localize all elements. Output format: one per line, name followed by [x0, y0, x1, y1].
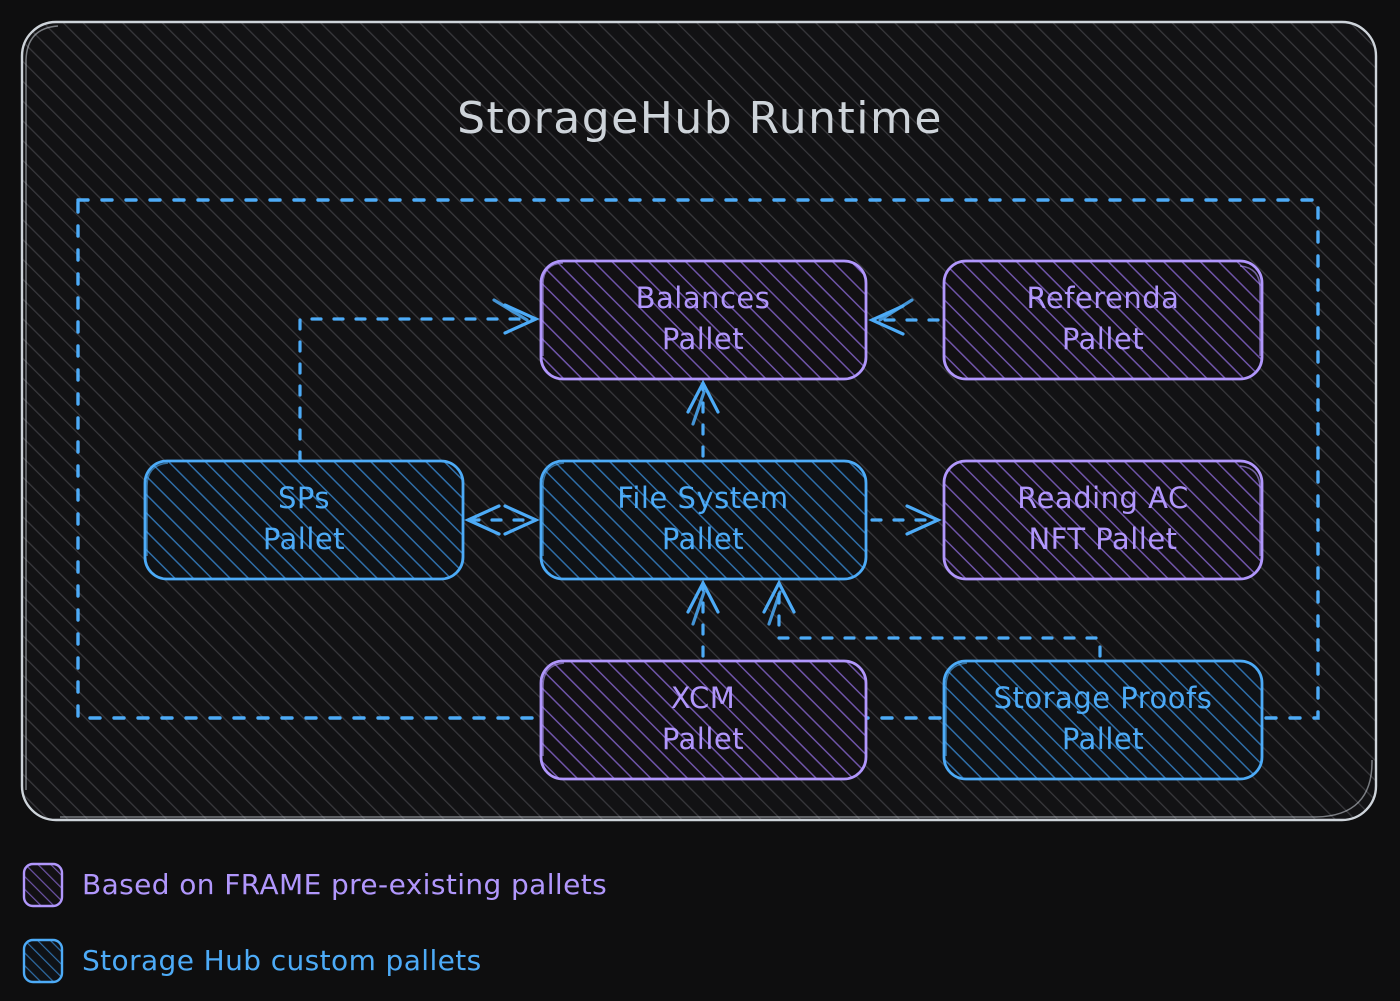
legend-swatch-custom-icon: [24, 940, 62, 982]
node-balances-pallet-box: [541, 261, 866, 379]
node-referenda-pallet-box: [944, 261, 1262, 379]
node-reading-ac-nft-pallet[interactable]: Reading AC NFT Pallet: [944, 461, 1262, 579]
node-balances-pallet[interactable]: Balances Pallet: [541, 261, 866, 379]
node-file-system-pallet-box: [541, 461, 866, 579]
storagehub-runtime-diagram: StorageHub Runtime: [0, 0, 1400, 1001]
node-referenda-pallet[interactable]: Referenda Pallet: [944, 261, 1262, 379]
node-sps-pallet[interactable]: SPs Pallet: [145, 461, 463, 579]
node-reading-ac-nft-pallet-box: [944, 461, 1262, 579]
node-storage-proofs-pallet[interactable]: Storage Proofs Pallet: [944, 661, 1262, 779]
legend-item-frame-label: Based on FRAME pre-existing pallets: [82, 868, 607, 901]
node-sps-pallet-box: [145, 461, 463, 579]
legend-item-frame: Based on FRAME pre-existing pallets: [24, 864, 607, 906]
node-xcm-pallet[interactable]: XCM Pallet: [541, 661, 866, 779]
node-xcm-pallet-box: [541, 661, 866, 779]
node-file-system-pallet[interactable]: File System Pallet: [541, 461, 866, 579]
legend-item-custom-label: Storage Hub custom pallets: [82, 944, 482, 977]
legend-swatch-frame-icon: [24, 864, 62, 906]
diagram-title: StorageHub Runtime: [457, 93, 943, 144]
diagram-canvas: StorageHub Runtime: [0, 0, 1400, 1001]
legend-item-custom: Storage Hub custom pallets: [24, 940, 482, 982]
node-storage-proofs-pallet-box: [944, 661, 1262, 779]
